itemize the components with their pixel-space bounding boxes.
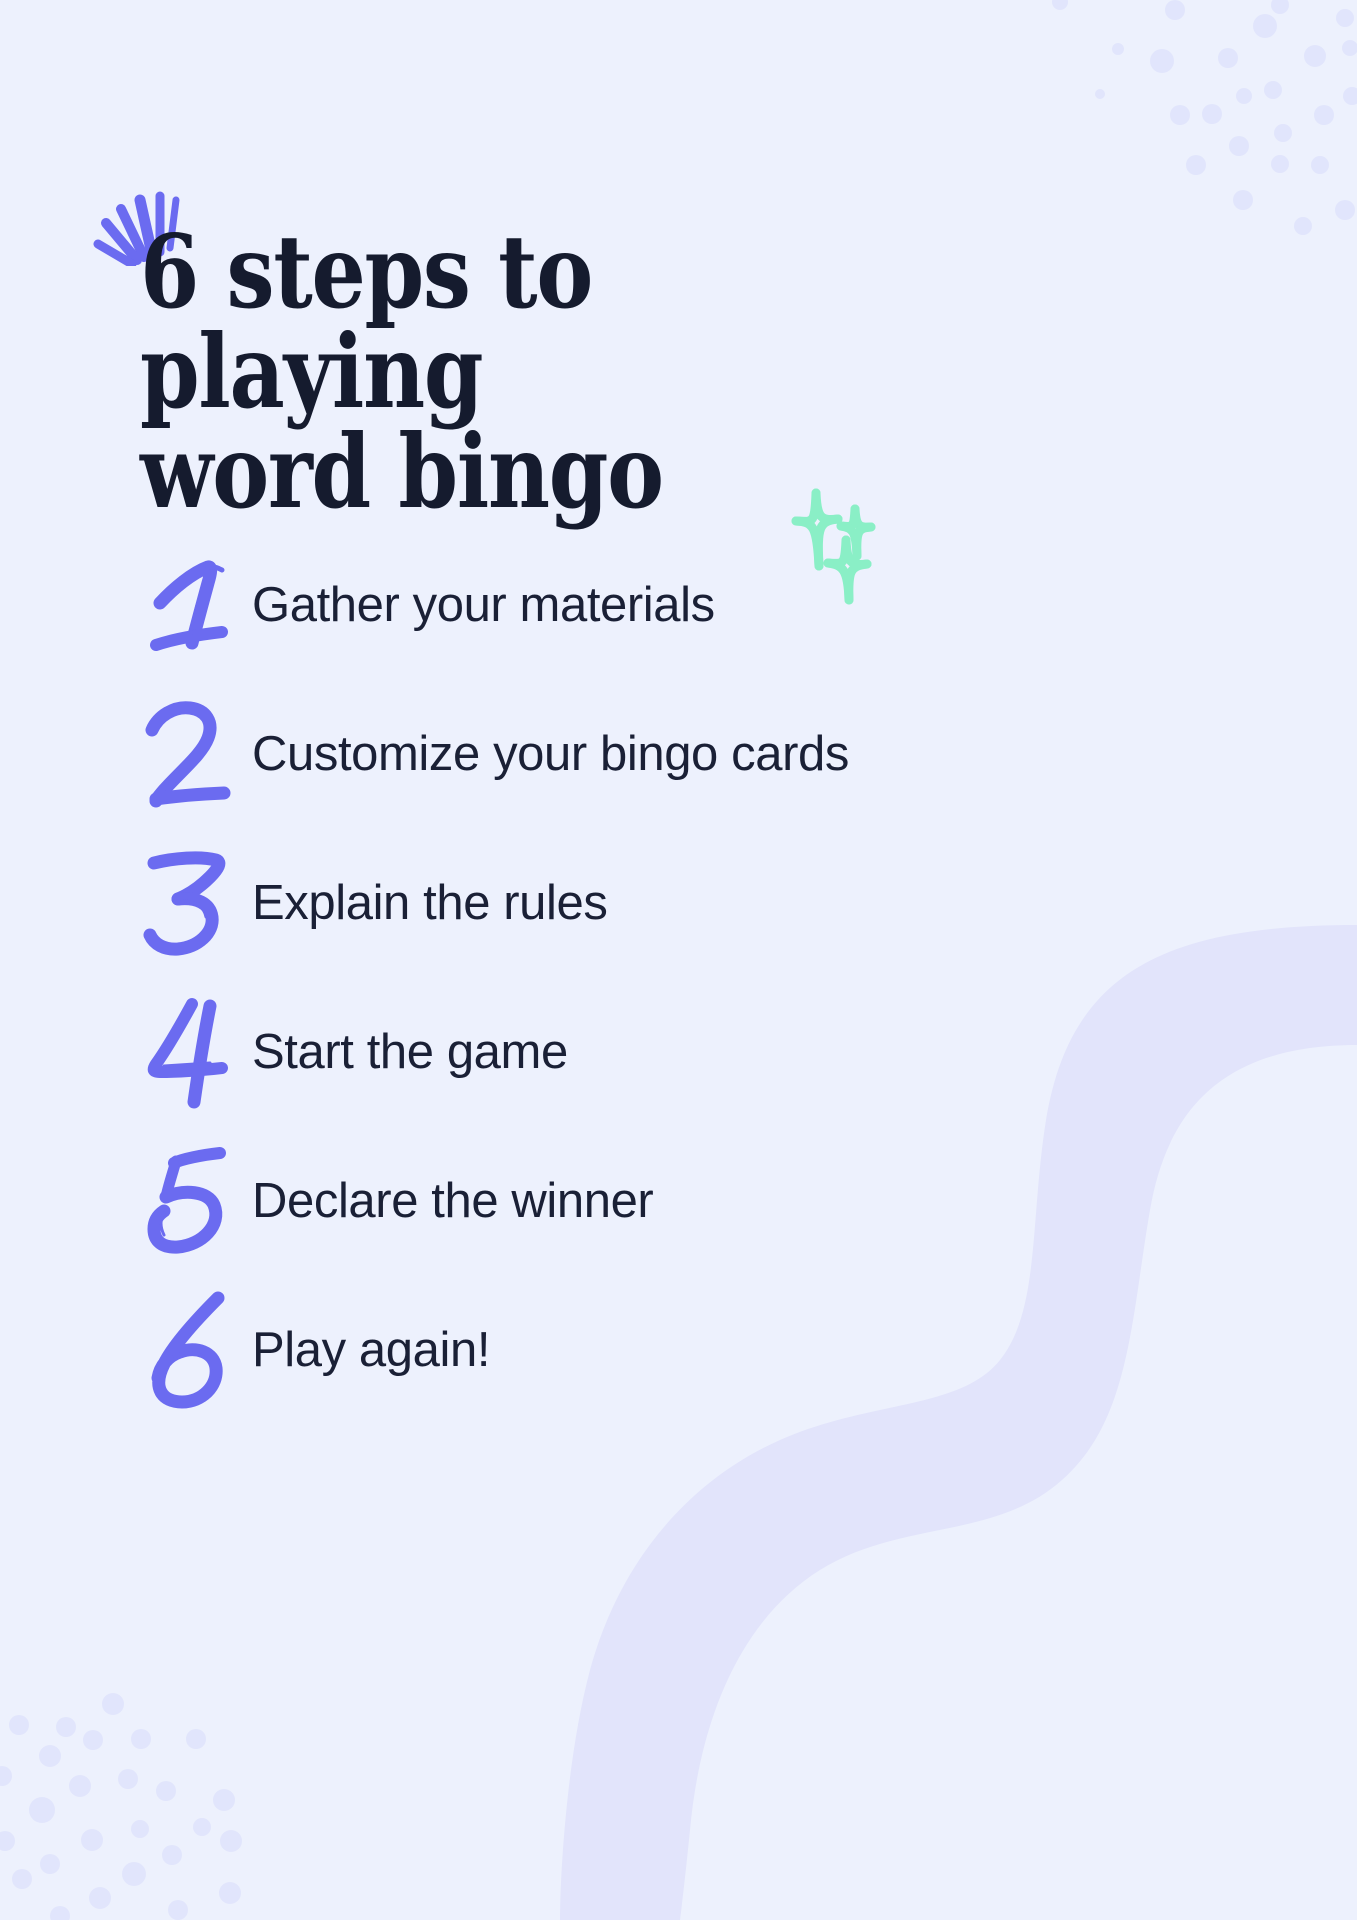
poster-canvas: 6 steps to playing word bingo — [0, 0, 1357, 1920]
step-number-2 — [134, 694, 252, 814]
page-title: 6 steps to playing word bingo — [140, 222, 901, 522]
step-number-3 — [134, 843, 252, 963]
step-number-6 — [134, 1290, 252, 1410]
step-label: Customize your bingo cards — [252, 726, 849, 782]
step-label: Play again! — [252, 1322, 490, 1378]
list-item: Declare the winner — [134, 1126, 1134, 1275]
title-block: 6 steps to playing word bingo — [140, 222, 1040, 522]
step-number-5 — [134, 1141, 252, 1261]
step-number-4 — [134, 992, 252, 1112]
step-label: Start the game — [252, 1024, 568, 1080]
step-label: Declare the winner — [252, 1173, 653, 1229]
list-item: Customize your bingo cards — [134, 679, 1134, 828]
step-label: Gather your materials — [252, 577, 715, 633]
list-item: Explain the rules — [134, 828, 1134, 977]
steps-list: Gather your materials Customize your bin… — [134, 530, 1134, 1424]
step-label: Explain the rules — [252, 875, 607, 931]
step-number-1 — [134, 545, 252, 665]
list-item: Play again! — [134, 1275, 1134, 1424]
list-item: Start the game — [134, 977, 1134, 1126]
list-item: Gather your materials — [134, 530, 1134, 679]
